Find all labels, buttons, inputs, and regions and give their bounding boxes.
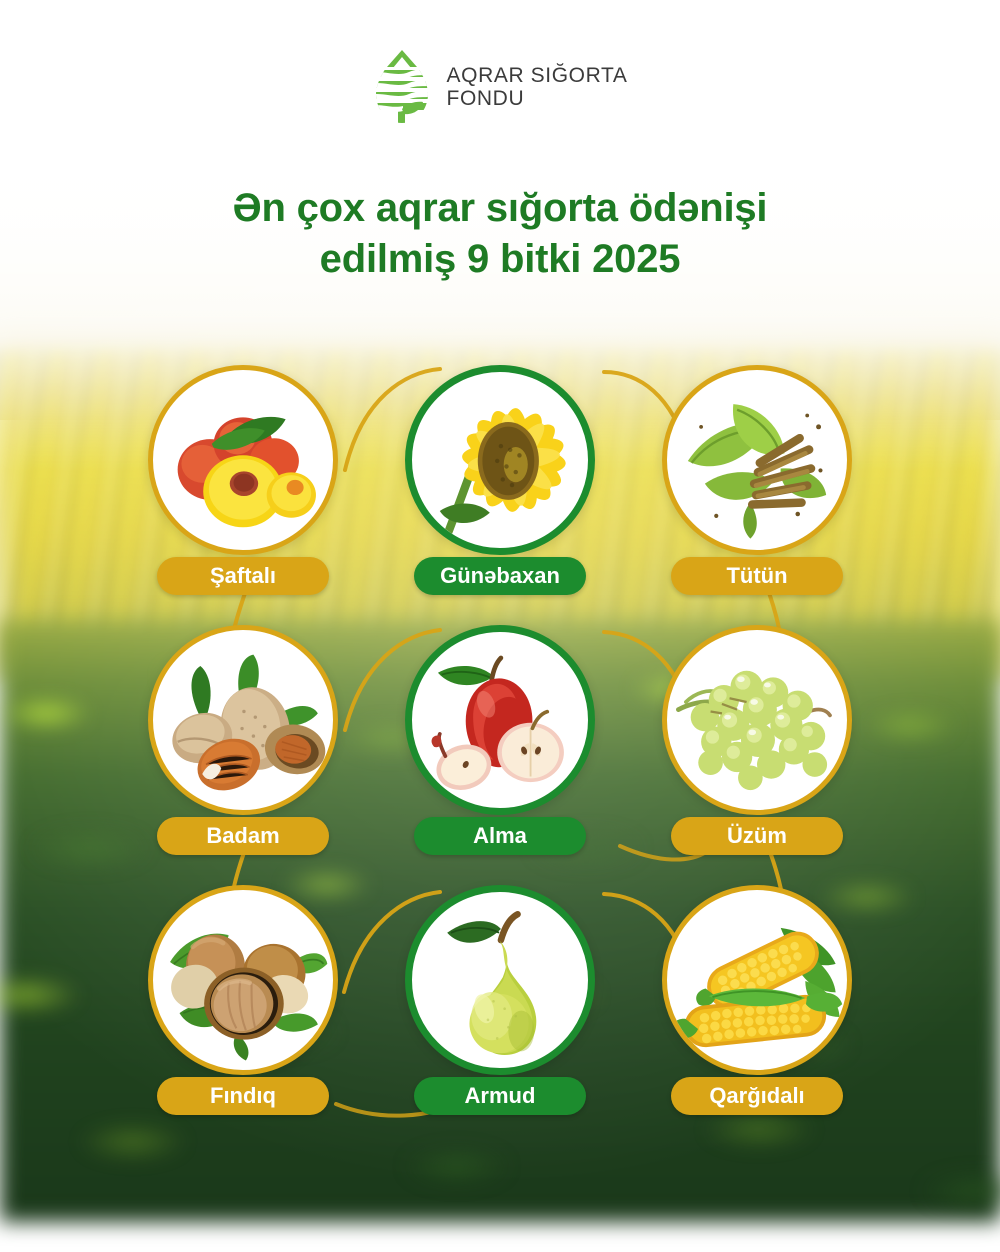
crop-image-circle xyxy=(662,625,852,815)
crop-card-sunflower[interactable]: Günəbaxan xyxy=(376,365,624,625)
crop-label: Üzüm xyxy=(671,817,843,855)
crop-label: Badam xyxy=(157,817,329,855)
hazelnut-icon xyxy=(153,890,333,1070)
crop-label: Günəbaxan xyxy=(414,557,586,595)
crop-card-pear[interactable]: Armud xyxy=(376,885,624,1145)
crop-image-circle xyxy=(148,365,338,555)
crop-card-almond[interactable]: Badam xyxy=(119,625,367,885)
header: AQRAR SIĞORTA FONDU xyxy=(0,0,1000,127)
almond-icon xyxy=(153,630,333,810)
brand-logo[interactable]: AQRAR SIĞORTA FONDU xyxy=(373,47,628,127)
brand-name-line2: FONDU xyxy=(447,87,628,110)
crop-image-circle xyxy=(662,365,852,555)
crop-image-circle xyxy=(148,625,338,815)
crop-label: Tütün xyxy=(671,557,843,595)
crop-label: Armud xyxy=(414,1077,586,1115)
crop-card-hazelnut[interactable]: Fındıq xyxy=(119,885,367,1145)
leaf-droplet-logo-icon xyxy=(373,47,431,127)
peach-icon xyxy=(153,370,333,550)
sunflower-icon xyxy=(412,372,588,548)
crop-label: Şaftalı xyxy=(157,557,329,595)
crop-card-corn[interactable]: Qarğıdalı xyxy=(633,885,881,1145)
page-title: Ən çox aqrar sığorta ödənişi edilmiş 9 b… xyxy=(0,183,1000,285)
crop-label: Fındıq xyxy=(157,1077,329,1115)
corn-icon xyxy=(667,890,847,1070)
crop-grid: Şaftalı xyxy=(0,365,1000,1145)
grapes-icon xyxy=(667,630,847,810)
crop-card-grapes[interactable]: Üzüm xyxy=(633,625,881,885)
crop-card-apple[interactable]: Alma xyxy=(376,625,624,885)
tobacco-icon xyxy=(667,370,847,550)
pear-icon xyxy=(412,892,588,1068)
crop-card-tobacco[interactable]: Tütün xyxy=(633,365,881,625)
crop-image-circle xyxy=(148,885,338,1075)
brand-name-line1: AQRAR SIĞORTA xyxy=(447,64,628,87)
apple-icon xyxy=(412,632,588,808)
brand-name: AQRAR SIĞORTA FONDU xyxy=(447,64,628,110)
crop-label: Alma xyxy=(414,817,586,855)
crop-image-circle xyxy=(405,365,595,555)
crop-image-circle xyxy=(662,885,852,1075)
page-title-line2: edilmiş 9 bitki 2025 xyxy=(0,234,1000,285)
crop-card-peach[interactable]: Şaftalı xyxy=(119,365,367,625)
page-title-line1: Ən çox aqrar sığorta ödənişi xyxy=(0,183,1000,234)
crop-label: Qarğıdalı xyxy=(671,1077,843,1115)
crop-image-circle xyxy=(405,885,595,1075)
crop-image-circle xyxy=(405,625,595,815)
